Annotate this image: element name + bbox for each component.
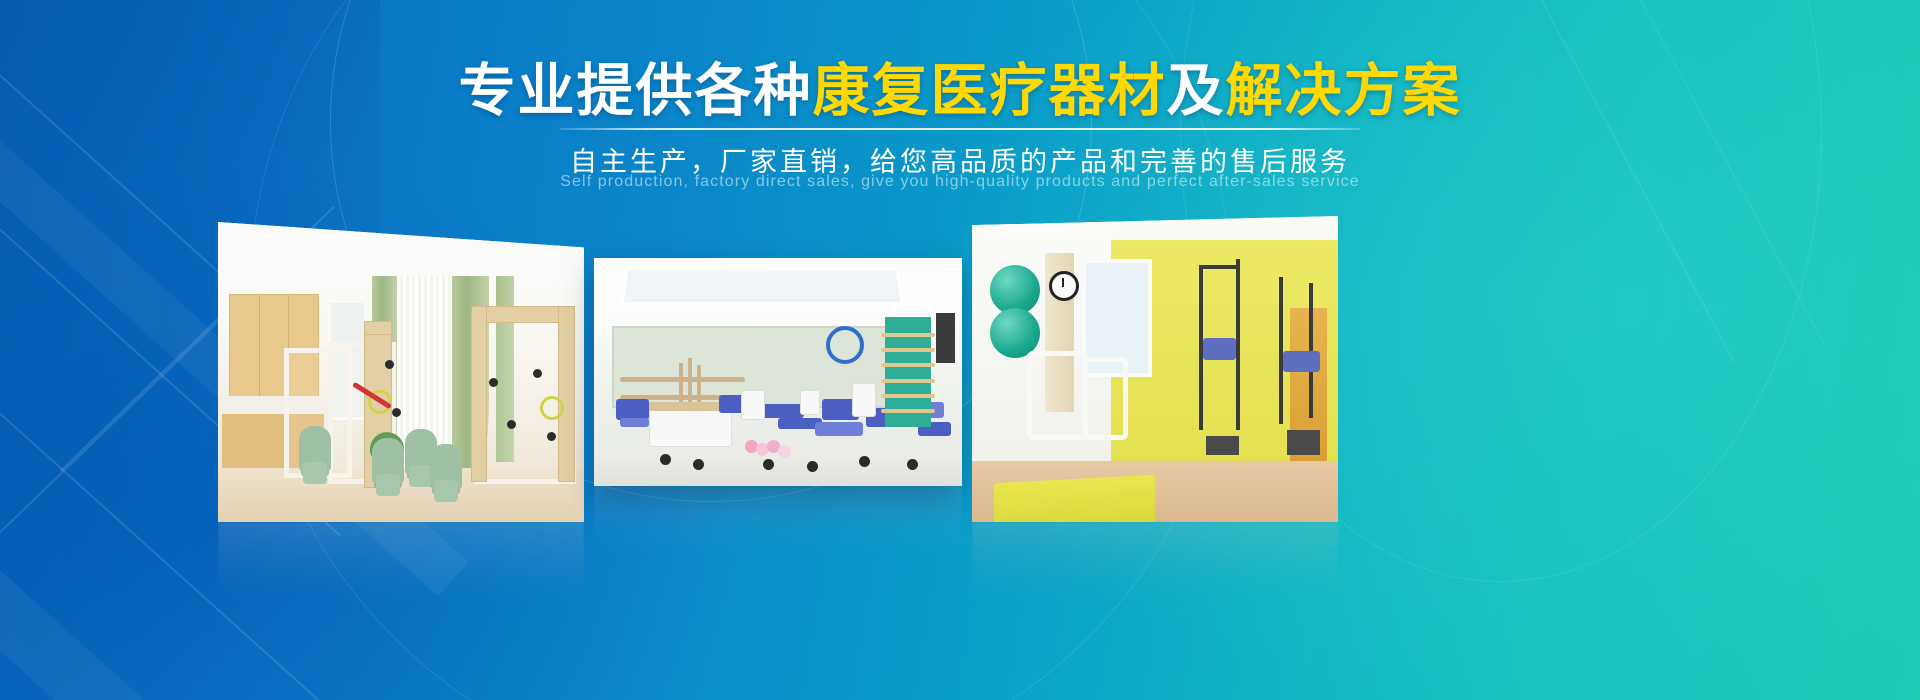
photo-2-scene — [594, 258, 962, 486]
wall-clock-icon — [1049, 271, 1079, 301]
photo-reflection-3 — [972, 522, 1338, 632]
photo-3-scene — [972, 216, 1338, 522]
photo-1-scene — [218, 222, 584, 522]
photo-rehab-gym-blue-equipment[interactable] — [594, 258, 962, 486]
photo-reflection-2 — [594, 486, 962, 582]
treatment-bench — [994, 475, 1155, 522]
photo-rehab-room-wooden-frames[interactable] — [218, 222, 584, 522]
promo-banner: 专业提供各种康复医疗器材及解决方案 自主生产，厂家直销，给您高品质的产品和完善的… — [0, 0, 1920, 700]
photo-gallery — [0, 0, 1920, 700]
photo-rehab-room-green-balls[interactable] — [972, 216, 1338, 522]
photo-reflection-1 — [218, 522, 584, 632]
